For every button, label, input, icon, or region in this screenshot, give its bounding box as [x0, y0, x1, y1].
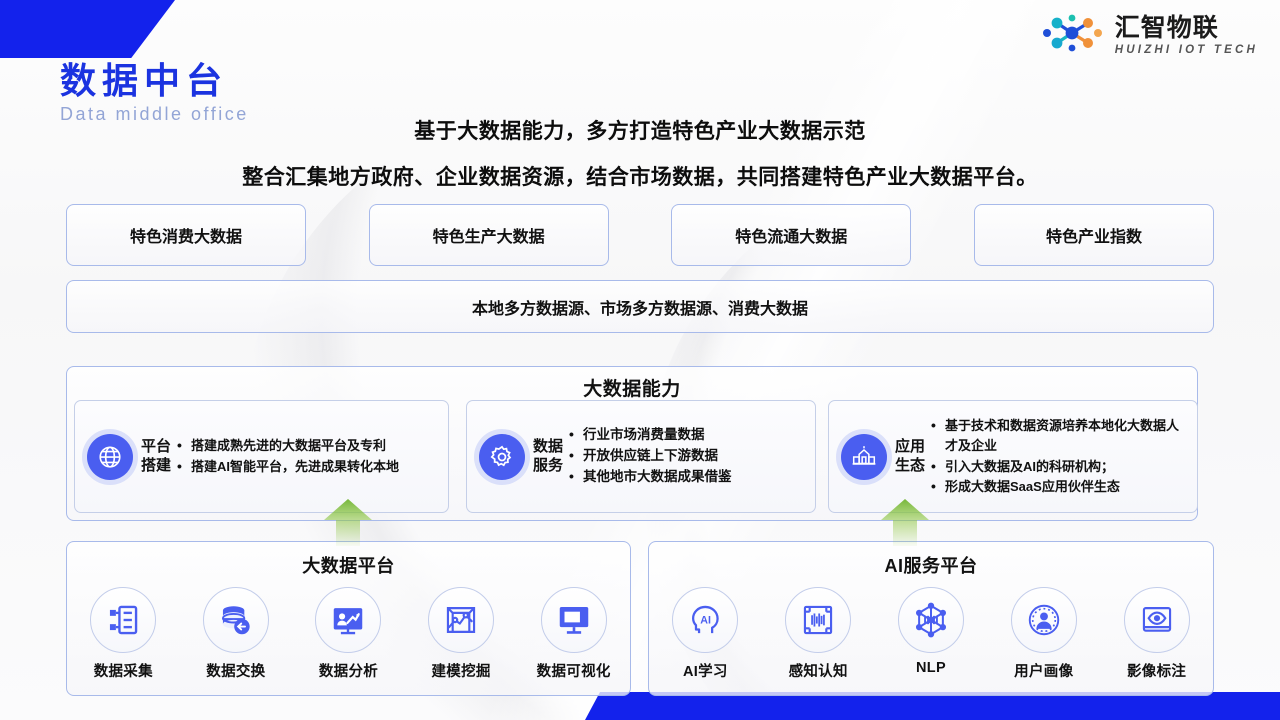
platform-item-label: 影像标注 — [1107, 660, 1207, 681]
perception-scan-icon — [785, 587, 851, 653]
platform-item-data-visualization[interactable]: 数据可视化 — [524, 587, 624, 681]
capability-bullet: 行业市场消费量数据 — [569, 425, 732, 446]
platform-item-image-annotation[interactable]: 影像标注 — [1107, 587, 1207, 681]
capability-card-app-ecosystem[interactable]: 应用 生态 基于技术和数据资源培养本地化大数据人才及企业 引入大数据及AI的科研… — [828, 400, 1198, 513]
platform-item-data-exchange[interactable]: 数据交换 — [186, 587, 286, 681]
headline-block: 基于大数据能力，多方打造特色产业大数据示范 整合汇集地方政府、企业数据资源，结合… — [0, 115, 1280, 191]
platform-item-label: 数据可视化 — [524, 660, 624, 681]
platform-item-label: NLP — [881, 660, 981, 676]
capability-bullet: 形成大数据SaaS应用伙伴生态 — [931, 477, 1189, 497]
building-icon — [841, 434, 887, 480]
capability-card-platform[interactable]: 平台 搭建 搭建成熟先进的大数据平台及专利 搭建AI智能平台，先进成果转化本地 — [74, 400, 449, 513]
platform-item-user-profile[interactable]: 用户画像 — [994, 587, 1094, 681]
capability-bullet: 其他地市大数据成果借鉴 — [569, 467, 732, 488]
platform-item-label: AI学习 — [655, 660, 755, 681]
platform-item-label: 感知认知 — [768, 660, 868, 681]
top-box-label: 特色产业指数 — [1046, 223, 1142, 247]
model-mining-icon — [428, 587, 494, 653]
capability-bullet-list: 行业市场消费量数据 开放供应链上下游数据 其他地市大数据成果借鉴 — [569, 425, 732, 488]
top-box-label: 特色生产大数据 — [433, 223, 545, 247]
capability-bullet: 开放供应链上下游数据 — [569, 446, 732, 467]
database-exchange-icon — [203, 587, 269, 653]
ai-service-platform-panel: AI服务平台 AI AI学习 — [648, 541, 1214, 696]
platform-item-label: 建模挖掘 — [411, 660, 511, 681]
platform-item-perception[interactable]: 感知认知 — [768, 587, 868, 681]
platform-title: 大数据平台 — [67, 552, 630, 578]
capability-bullet: 搭建成熟先进的大数据平台及专利 — [177, 436, 399, 456]
image-annotation-icon — [1124, 587, 1190, 653]
capability-card-label: 数据 服务 — [533, 438, 563, 476]
logo-text-block: 汇智物联 HUIZHI IOT TECH — [1115, 15, 1258, 57]
top-box-circulation[interactable]: 特色流通大数据 — [671, 204, 911, 266]
green-up-arrow-1 — [322, 498, 374, 546]
list-collect-icon — [90, 587, 156, 653]
capability-bullet: 搭建AI智能平台，先进成果转化本地 — [177, 457, 399, 477]
platform-item-row: AI AI学习 — [649, 587, 1213, 681]
capability-card-data-service[interactable]: 数据 服务 行业市场消费量数据 开放供应链上下游数据 其他地市大数据成果借鉴 — [466, 400, 816, 513]
capability-bullet-list: 基于技术和数据资源培养本地化大数据人才及企业 引入大数据及AI的科研机构； 形成… — [931, 416, 1189, 497]
svg-text:AI: AI — [701, 615, 712, 627]
logo-text-en: HUIZHI IOT TECH — [1115, 44, 1258, 56]
top-box-consumption[interactable]: 特色消费大数据 — [66, 204, 306, 266]
gear-icon — [479, 434, 525, 480]
platform-item-label: 数据交换 — [186, 660, 286, 681]
big-data-platform-panel: 大数据平台 数据采集 — [66, 541, 631, 696]
headline-line-1: 基于大数据能力，多方打造特色产业大数据示范 — [0, 115, 1280, 145]
chart-analysis-icon — [315, 587, 381, 653]
data-source-bar[interactable]: 本地多方数据源、市场多方数据源、消费大数据 — [66, 280, 1214, 333]
capability-card-label: 平台 搭建 — [141, 438, 171, 476]
page-title: 数据中台 — [60, 62, 249, 100]
platform-title: AI服务平台 — [649, 552, 1213, 578]
platform-item-label: 数据采集 — [73, 660, 173, 681]
platform-item-label: 数据分析 — [298, 660, 398, 681]
platform-item-data-analysis[interactable]: 数据分析 — [298, 587, 398, 681]
top-box-production[interactable]: 特色生产大数据 — [369, 204, 609, 266]
platform-item-nlp[interactable]: NLP — [881, 587, 981, 681]
platform-item-label: 用户画像 — [994, 660, 1094, 681]
monitor-visualization-icon — [541, 587, 607, 653]
top-box-industry-index[interactable]: 特色产业指数 — [974, 204, 1214, 266]
top-box-label: 特色消费大数据 — [130, 223, 242, 247]
platform-item-ai-learning[interactable]: AI AI学习 — [655, 587, 755, 681]
company-logo: 汇智物联 HUIZHI IOT TECH — [1043, 12, 1258, 59]
globe-icon — [87, 434, 133, 480]
top-category-row: 特色消费大数据 特色生产大数据 特色流通大数据 特色产业指数 — [66, 204, 1214, 266]
capability-bullet-list: 搭建成熟先进的大数据平台及专利 搭建AI智能平台，先进成果转化本地 — [177, 436, 399, 476]
capability-section-title: 大数据能力 — [67, 374, 1197, 401]
capability-card-label: 应用 生态 — [895, 438, 925, 476]
molecule-network-icon — [1043, 12, 1105, 59]
nlp-network-icon — [898, 587, 964, 653]
platform-item-data-collection[interactable]: 数据采集 — [73, 587, 173, 681]
capability-bullet: 基于技术和数据资源培养本地化大数据人才及企业 — [931, 416, 1189, 456]
platform-item-model-mining[interactable]: 建模挖掘 — [411, 587, 511, 681]
user-profile-icon — [1011, 587, 1077, 653]
green-up-arrow-2 — [879, 498, 931, 546]
capability-cards: 平台 搭建 搭建成熟先进的大数据平台及专利 搭建AI智能平台，先进成果转化本地 … — [66, 400, 1198, 513]
ai-head-icon: AI — [672, 587, 738, 653]
data-source-label: 本地多方数据源、市场多方数据源、消费大数据 — [472, 295, 808, 319]
capability-bullet: 引入大数据及AI的科研机构； — [931, 457, 1189, 477]
logo-text-cn: 汇智物联 — [1115, 15, 1258, 43]
platform-item-row: 数据采集 数据交换 — [67, 587, 630, 681]
top-box-label: 特色流通大数据 — [735, 223, 847, 247]
headline-line-2: 整合汇集地方政府、企业数据资源，结合市场数据，共同搭建特色产业大数据平台。 — [0, 161, 1280, 191]
